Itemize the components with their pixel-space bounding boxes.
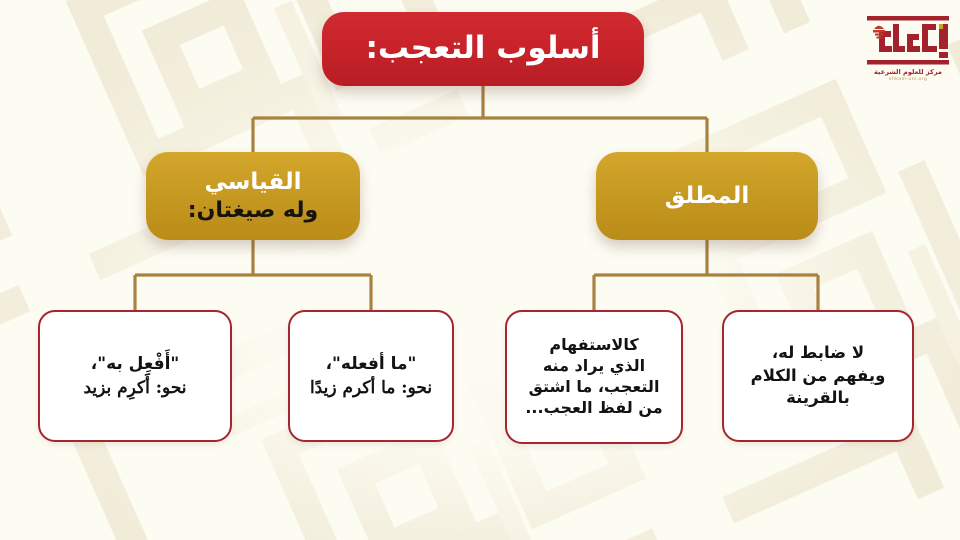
leaf-afil-bihi-head: "أَفْعِل به"، [91,354,180,375]
branch-qiyasi-line2: وله صيغتان: [188,198,318,225]
logo-url: ehkam-uni.org [889,77,928,82]
branch-mutlaq-line1: المطلق [665,182,749,210]
leaf-ma-afalahu-head: "ما أفعله"، [326,354,417,375]
leaf-kal-istifham-line-1: كالاستفهام [549,335,638,356]
logo-subtitle: مركز للعلوم الشرعية [874,68,942,76]
root-title-label: أسلوب التعجب: [365,30,600,68]
brand-logo: مركز للعلوم الشرعية ehkam-uni.org [862,14,954,98]
diagram-canvas: أسلوب التعجب: القياسي وله صيغتان: المطلق… [0,0,960,540]
leaf-la-dabita-lahu-line-3: بالقرينة [786,387,850,409]
branch-qiyasi-line1: القياسي [205,168,302,196]
branch-node-qiyasi: القياسي وله صيغتان: [146,152,360,240]
leaf-node-afil-bihi: "أَفْعِل به"، نحو: أَكرِم بزيد [38,310,232,442]
root-node-title: أسلوب التعجب: [322,12,644,86]
leaf-node-ma-afalahu: "ما أفعله"، نحو: ما أكرم زيدًا [288,310,454,442]
leaf-la-dabita-lahu-line-1: لا ضابط له، [772,342,864,364]
branch-node-mutlaq: المطلق [596,152,818,240]
leaf-kal-istifham-line-4: من لفظ العجب... [525,398,662,419]
leaf-node-la-dabita-lahu: لا ضابط له، ويفهم من الكلام بالقرينة [722,310,914,442]
leaf-kal-istifham-line-2: الذي يراد منه [543,356,645,377]
leaf-afil-bihi-example: نحو: أَكرِم بزيد [83,378,186,399]
ihkam-logo-icon [864,14,952,66]
leaf-kal-istifham-line-3: التعجب، ما اشتق [529,377,660,398]
leaf-ma-afalahu-example: نحو: ما أكرم زيدًا [310,378,432,399]
leaf-la-dabita-lahu-line-2: ويفهم من الكلام [751,365,886,387]
leaf-node-kal-istifham: كالاستفهام الذي يراد منه التعجب، ما اشتق… [505,310,683,444]
